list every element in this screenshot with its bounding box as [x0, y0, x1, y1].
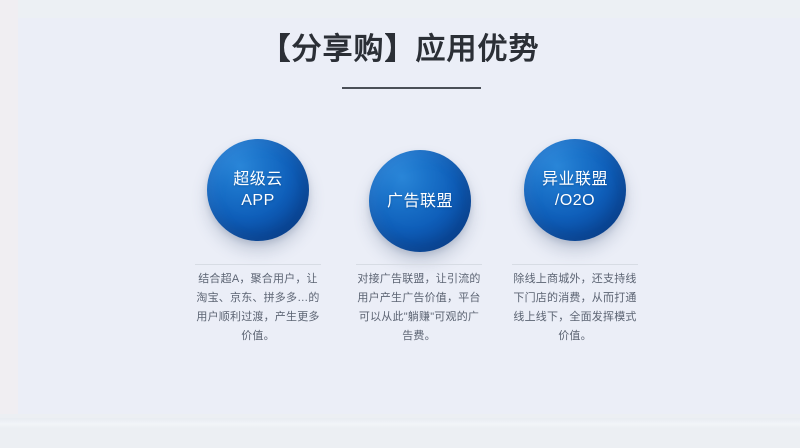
feature-description-1: 结合超A，聚合用户，让淘宝、京东、拼多多…的用户顺利过渡，产生更多价值。 — [195, 270, 321, 346]
feature-description-2: 对接广告联盟，让引流的用户产生广告价值，平台可以从此"躺赚"可观的广告费。 — [356, 270, 482, 346]
background-bottom-hairline — [0, 418, 800, 428]
feature-circle-3[interactable]: 异业联盟 /O2O — [524, 139, 626, 241]
feature-circle-1[interactable]: 超级云 APP — [207, 139, 309, 241]
background-top-tint — [18, 0, 800, 18]
page-title-container: 【分享购】应用优势 — [0, 30, 800, 70]
feature-divider-1 — [195, 264, 321, 265]
feature-divider-3 — [512, 264, 638, 265]
feature-description-3: 除线上商城外，还支持线下门店的消费，从而打通线上线下，全面发挥模式价值。 — [512, 270, 638, 346]
slide-canvas: 【分享购】应用优势 超级云 APP 广告联盟 异业联盟 /O2O 结合超A，聚合… — [0, 0, 800, 448]
feature-circle-1-label: 超级云 APP — [233, 169, 283, 211]
page-title: 【分享购】应用优势 — [0, 30, 800, 70]
feature-circle-2[interactable]: 广告联盟 — [369, 150, 471, 252]
title-underline-rule — [342, 87, 481, 89]
feature-divider-2 — [356, 264, 482, 265]
feature-circle-2-label: 广告联盟 — [387, 191, 453, 212]
feature-circle-3-label: 异业联盟 /O2O — [542, 169, 608, 211]
